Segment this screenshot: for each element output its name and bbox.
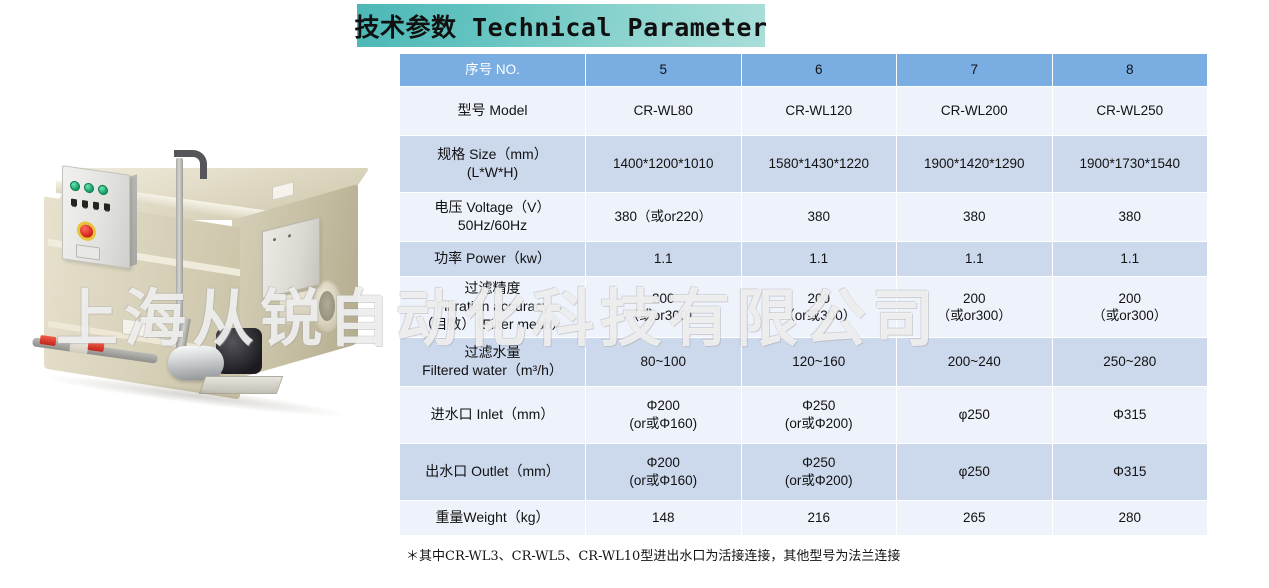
table-row: 进水口 Inlet（mm） Φ200 (or或Φ160) Φ250 (or或Φ2…	[400, 386, 1208, 443]
cell-inlet-6-sub: (or或Φ200)	[744, 415, 895, 432]
cell-filtration-7: 200 （或or300）	[897, 277, 1053, 338]
header-no-label: 序号 NO.	[400, 54, 586, 87]
table-row: 过滤精度 Filtration accuracy （目数）（Filter mes…	[400, 277, 1208, 338]
row-label-filtered-water: 过滤水量 Filtered water（m³/h）	[400, 337, 586, 386]
row-label-size-sub: (L*W*H)	[402, 164, 583, 182]
table-body: 型号 Model CR-WL80 CR-WL120 CR-WL200 CR-WL…	[400, 87, 1208, 581]
row-label-size: 规格 Size（mm） (L*W*H)	[400, 136, 586, 193]
row-label-filtration-sub2: （目数）（Filter mesh）	[402, 316, 583, 334]
cell-weight-6: 216	[741, 500, 897, 535]
row-label-voltage-main: 电压 Voltage（V）	[402, 199, 583, 217]
cell-outlet-5: Φ200 (or或Φ160)	[586, 443, 742, 500]
cell-model-8: CR-WL250	[1052, 87, 1208, 136]
cell-weight-7: 265	[897, 500, 1053, 535]
cell-outlet-8: Φ315	[1052, 443, 1208, 500]
table-row: 电压 Voltage（V） 50Hz/60Hz 380（或or220） 380 …	[400, 193, 1208, 242]
table-row: 出水口 Outlet（mm） Φ200 (or或Φ160) Φ250 (or或Φ…	[400, 443, 1208, 500]
table-footnote: ＊其中CR-WL3、CR-WL5、CR-WL10型进出水口为活接连接，其他型号为…	[400, 535, 1208, 580]
cell-filtration-7-sub: （或or300）	[899, 307, 1050, 324]
cell-outlet-7: φ250	[897, 443, 1053, 500]
cell-inlet-5-sub: (or或Φ160)	[588, 415, 739, 432]
cell-filtered-water-6: 120~160	[741, 337, 897, 386]
cell-voltage-6: 380	[741, 193, 897, 242]
row-label-outlet: 出水口 Outlet（mm）	[400, 443, 586, 500]
cell-outlet-5-main: Φ200	[588, 454, 739, 471]
cell-power-8: 1.1	[1052, 242, 1208, 277]
header-col-5: 5	[586, 54, 742, 87]
table-row: 规格 Size（mm） (L*W*H) 1400*1200*1010 1580*…	[400, 136, 1208, 193]
page-title: 技术参数 Technical Parameter	[354, 8, 767, 44]
row-label-voltage: 电压 Voltage（V） 50Hz/60Hz	[400, 193, 586, 242]
product-illustration	[26, 150, 376, 450]
table-row: 型号 Model CR-WL80 CR-WL120 CR-WL200 CR-WL…	[400, 87, 1208, 136]
cell-filtration-6-main: 200	[744, 290, 895, 307]
cell-power-5: 1.1	[586, 242, 742, 277]
cell-filtered-water-7: 200~240	[897, 337, 1053, 386]
junction-box-screws	[273, 234, 291, 241]
cell-filtered-water-8: 250~280	[1052, 337, 1208, 386]
selector-switch-icon	[104, 203, 110, 211]
row-label-inlet: 进水口 Inlet（mm）	[400, 386, 586, 443]
indicator-lamp-icon	[84, 182, 94, 193]
row-label-model: 型号 Model	[400, 87, 586, 136]
table-header: 序号 NO. 5 6 7 8	[400, 54, 1208, 87]
outlet-flange-bore	[319, 291, 335, 321]
technical-parameter-table: 序号 NO. 5 6 7 8 型号 Model CR-WL80 CR-WL120…	[399, 53, 1208, 581]
row-label-filtered-water-main: 过滤水量	[402, 344, 583, 362]
header-col-6: 6	[741, 54, 897, 87]
cell-voltage-8: 380	[1052, 193, 1208, 242]
cell-weight-5: 148	[586, 500, 742, 535]
cell-inlet-7: φ250	[897, 386, 1053, 443]
cell-model-5: CR-WL80	[586, 87, 742, 136]
row-label-filtration-sub: Filtration accuracy	[402, 298, 583, 316]
header-col-8: 8	[1052, 54, 1208, 87]
cell-weight-8: 280	[1052, 500, 1208, 535]
cell-filtration-6-sub: （or或300）	[744, 307, 895, 324]
row-label-filtration-accuracy: 过滤精度 Filtration accuracy （目数）（Filter mes…	[400, 277, 586, 338]
control-cabinet	[62, 165, 130, 269]
header-col-7: 7	[897, 54, 1053, 87]
cell-filtration-8-sub: （或or300）	[1055, 307, 1206, 324]
cell-voltage-5: 380（或or220）	[586, 193, 742, 242]
row-label-filtered-water-sub: Filtered water（m³/h）	[402, 362, 583, 380]
table-footnote-row: ＊其中CR-WL3、CR-WL5、CR-WL10型进出水口为活接连接，其他型号为…	[400, 535, 1208, 580]
table-header-row: 序号 NO. 5 6 7 8	[400, 54, 1208, 87]
cell-filtration-5: 200 （或or300）	[586, 277, 742, 338]
cell-inlet-8: Φ315	[1052, 386, 1208, 443]
cell-power-7: 1.1	[897, 242, 1053, 277]
emergency-stop-icon	[77, 220, 96, 242]
cell-inlet-5-main: Φ200	[588, 397, 739, 414]
cell-outlet-6-main: Φ250	[744, 454, 895, 471]
cell-filtration-5-sub: （或or300）	[588, 307, 739, 324]
table-row: 过滤水量 Filtered water（m³/h） 80~100 120~160…	[400, 337, 1208, 386]
indicator-lamp-icon	[98, 184, 108, 195]
pipe-union	[69, 339, 89, 354]
cell-inlet-6-main: Φ250	[744, 397, 895, 414]
cell-filtration-5-main: 200	[588, 290, 739, 307]
indicator-lamps	[70, 180, 108, 195]
cell-outlet-6-sub: (or或Φ200)	[744, 472, 895, 489]
cell-filtration-6: 200 （or或300）	[741, 277, 897, 338]
selector-switch-icon	[82, 200, 88, 208]
cell-inlet-5: Φ200 (or或Φ160)	[586, 386, 742, 443]
junction-box	[262, 217, 320, 299]
selector-switches	[71, 198, 110, 210]
table-row: 重量Weight（kg） 148 216 265 280	[400, 500, 1208, 535]
row-label-voltage-sub: 50Hz/60Hz	[402, 217, 583, 235]
cell-filtered-water-5: 80~100	[586, 337, 742, 386]
cell-filtration-7-main: 200	[899, 290, 1050, 307]
cell-model-7: CR-WL200	[897, 87, 1053, 136]
cabinet-nameplate	[76, 244, 100, 260]
cell-size-6: 1580*1430*1220	[741, 136, 897, 193]
cell-power-6: 1.1	[741, 242, 897, 277]
selector-switch-icon	[71, 198, 77, 206]
cell-size-7: 1900*1420*1290	[897, 136, 1053, 193]
row-label-filtration-main: 过滤精度	[402, 280, 583, 298]
selector-switch-icon	[93, 202, 99, 210]
row-label-weight: 重量Weight（kg）	[400, 500, 586, 535]
row-label-power: 功率 Power（kw）	[400, 242, 586, 277]
pump-body	[168, 346, 224, 380]
cell-model-6: CR-WL120	[741, 87, 897, 136]
cell-voltage-7: 380	[897, 193, 1053, 242]
section-title-banner: 技术参数 Technical Parameter	[357, 4, 765, 47]
cell-inlet-6: Φ250 (or或Φ200)	[741, 386, 897, 443]
table-row: 功率 Power（kw） 1.1 1.1 1.1 1.1	[400, 242, 1208, 277]
row-label-size-main: 规格 Size（mm）	[402, 146, 583, 164]
product-photo	[0, 0, 392, 588]
indicator-lamp-icon	[70, 180, 80, 191]
cell-outlet-6: Φ250 (or或Φ200)	[741, 443, 897, 500]
cell-filtration-8: 200 （或or300）	[1052, 277, 1208, 338]
cell-outlet-5-sub: (or或Φ160)	[588, 472, 739, 489]
cell-filtration-8-main: 200	[1055, 290, 1206, 307]
cell-size-5: 1400*1200*1010	[586, 136, 742, 193]
cell-size-8: 1900*1730*1540	[1052, 136, 1208, 193]
